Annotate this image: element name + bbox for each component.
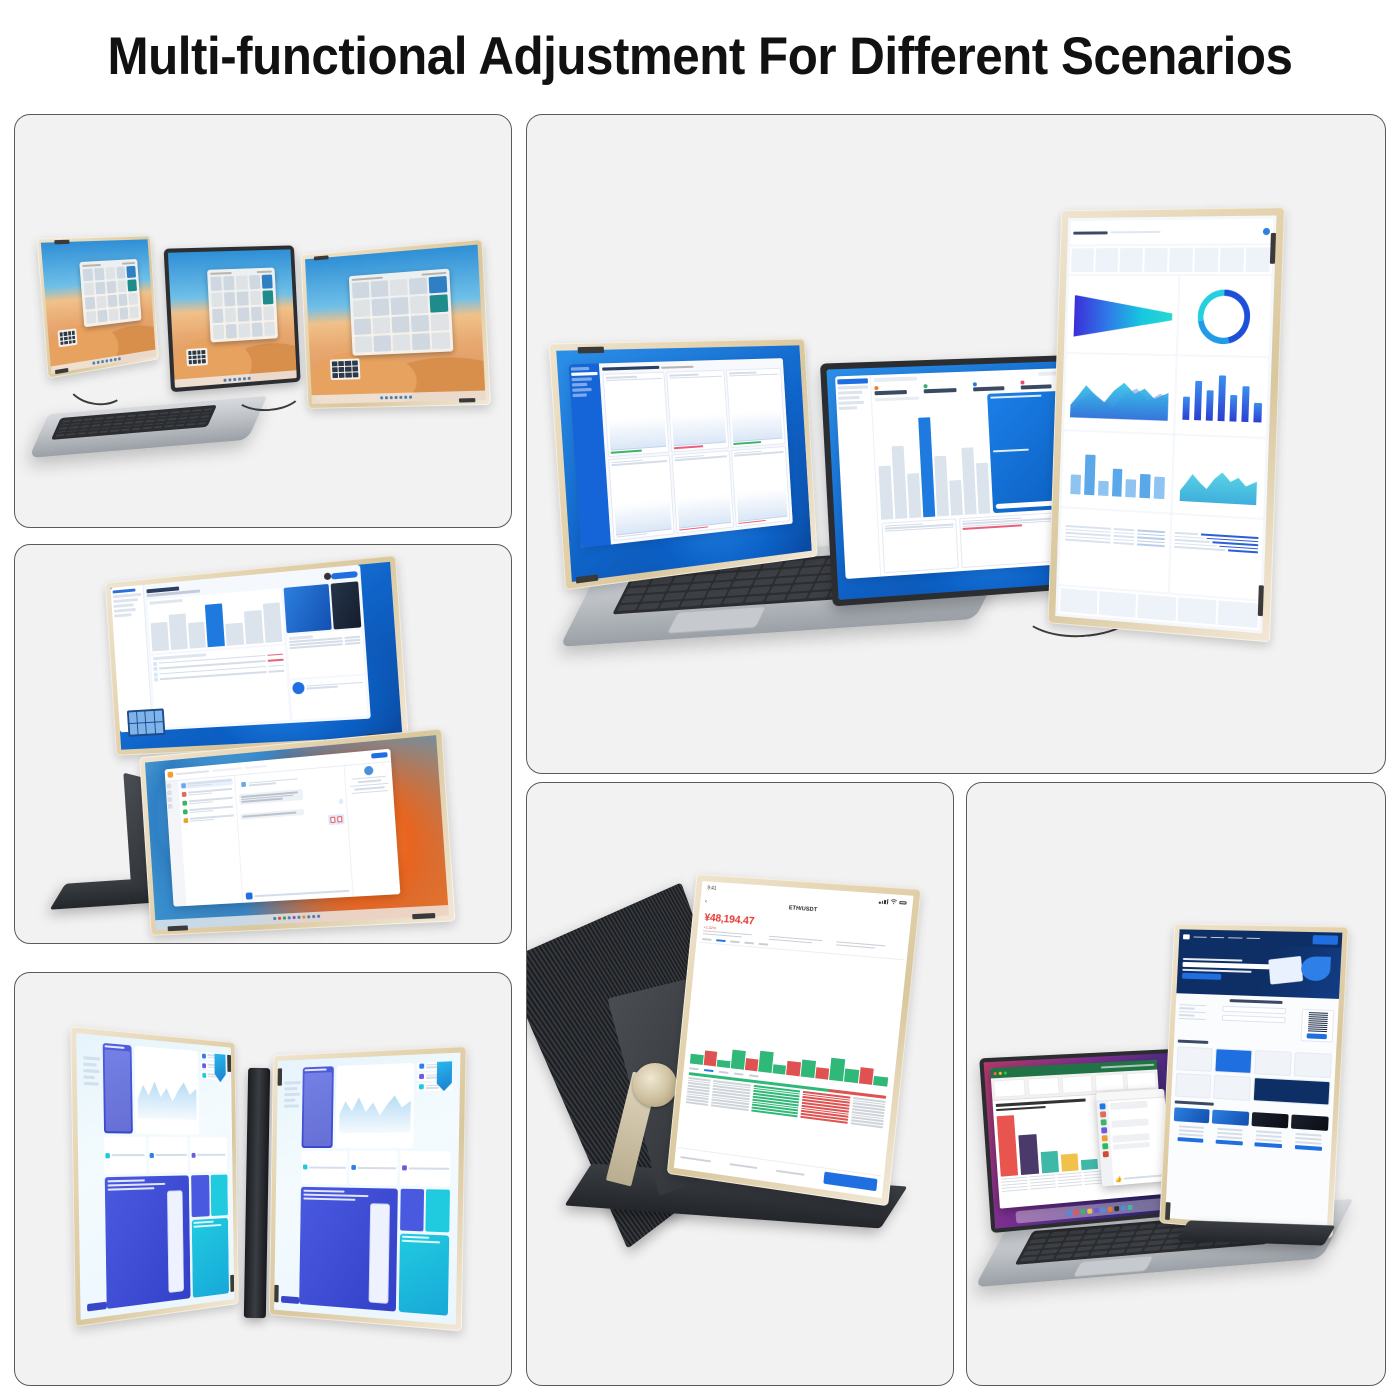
back-chevron-icon[interactable]: ‹	[705, 899, 707, 905]
stat-pill[interactable]	[400, 1151, 451, 1187]
metric-card[interactable]	[602, 372, 669, 457]
desktop-widget[interactable]	[57, 329, 78, 348]
crypto-trading-app: 9:41 ‹ ETH/USDT ¥48,194.47	[674, 881, 914, 1198]
dashboard-app	[556, 345, 811, 582]
left-fold-screen	[70, 1026, 238, 1327]
banking-content	[144, 565, 371, 730]
battery-icon	[899, 901, 907, 905]
avatar	[363, 765, 373, 775]
bar-chart	[875, 399, 990, 520]
fintech-bottom-row	[300, 1187, 451, 1316]
text-input[interactable]	[1222, 1014, 1285, 1023]
hero-eyebrow	[1183, 958, 1243, 962]
metric-card[interactable]	[666, 370, 729, 453]
greeting-block	[147, 584, 200, 597]
product-card[interactable]	[1291, 1114, 1329, 1130]
fintech-mid-row	[301, 1151, 450, 1187]
dashboard-window	[568, 358, 793, 548]
ranking-list	[1173, 532, 1259, 593]
left-extension-monitor	[37, 235, 160, 378]
card-promo-tile[interactable]	[302, 1066, 334, 1148]
feature-tile[interactable]	[1175, 1073, 1212, 1099]
area-chart-primary	[1070, 373, 1169, 420]
vertical-stack-scene	[15, 545, 511, 943]
tent-mode-screen: 9:41 ‹ ETH/USDT ¥48,194.47	[667, 874, 922, 1207]
portrait-monitor-screen	[1055, 215, 1276, 633]
windows-desktop	[305, 245, 486, 404]
message-bubble-outgoing	[339, 799, 343, 805]
right-fold-screen	[269, 1046, 467, 1332]
balance-card[interactable]	[192, 1218, 229, 1298]
stat-pill[interactable]	[104, 1137, 147, 1174]
kpi-stat	[924, 382, 970, 393]
lookup-form-row	[1178, 1004, 1334, 1042]
tent-mode-scene: 9:41 ‹ ETH/USDT ¥48,194.47	[527, 783, 953, 1385]
panel-tent-mode: 9:41 ‹ ETH/USDT ¥48,194.47	[526, 782, 954, 1386]
panel-triple-screen	[14, 114, 512, 528]
stat-pill[interactable]	[190, 1138, 227, 1173]
notice-card[interactable]	[881, 518, 958, 573]
qr-action-button[interactable]	[1307, 1033, 1328, 1039]
corporate-website	[1165, 929, 1342, 1231]
analytics-nav[interactable]	[1069, 245, 1272, 274]
file-attachment-icon	[337, 816, 342, 822]
start-menu	[79, 259, 142, 328]
mobile-app-promo-card[interactable]	[300, 1187, 399, 1312]
bar-chart-card	[1175, 356, 1269, 437]
message-bubble-outgoing	[328, 814, 345, 825]
message-bubble	[1112, 1133, 1150, 1143]
bottom-screen-display	[145, 735, 449, 930]
trend-line-chart	[336, 1063, 415, 1148]
funnel-chart	[1074, 295, 1173, 338]
portrait-extension-monitor	[1159, 923, 1349, 1238]
fintech-content	[300, 1061, 453, 1316]
qr-code-card	[1301, 1008, 1334, 1042]
conversation-item[interactable]	[182, 813, 234, 824]
top-screen	[105, 555, 409, 756]
panel-laptop-dual-extension	[526, 114, 1386, 774]
panel-vertical-stack	[14, 544, 512, 944]
trade-cta-button[interactable]	[823, 1172, 877, 1192]
fintech-content	[102, 1043, 228, 1309]
pivot-hinge	[633, 1063, 677, 1107]
text-input[interactable]	[1223, 1005, 1286, 1013]
laptop-lid	[164, 245, 301, 392]
table-column	[1250, 1130, 1287, 1148]
area-chart-card	[1064, 354, 1175, 434]
kpi-stat	[972, 380, 1017, 391]
bottom-screen	[139, 728, 455, 936]
stat-pill[interactable]	[350, 1151, 398, 1186]
donut-chart	[1197, 290, 1252, 345]
card-promo-tile[interactable]	[102, 1043, 133, 1134]
banking-left-column	[147, 589, 290, 727]
credit-card[interactable]	[284, 584, 331, 632]
section-heading	[1178, 1039, 1208, 1043]
conversation-list[interactable]	[178, 775, 243, 906]
trend-line-chart	[134, 1046, 199, 1135]
transaction-list-card	[151, 646, 290, 727]
credit-card[interactable]	[330, 582, 361, 629]
left-fold-display	[76, 1033, 234, 1320]
laptop-trackpad[interactable]	[666, 606, 766, 634]
portrait-monitor-screen	[1165, 929, 1342, 1231]
fintech-top-row	[102, 1043, 226, 1135]
chat-body: 👍	[1097, 1098, 1171, 1186]
table-column	[1173, 1125, 1209, 1143]
mobile-app-promo-card[interactable]	[104, 1175, 190, 1308]
right-monitor-screen	[305, 245, 486, 404]
top-screen-display	[111, 562, 403, 750]
start-menu-app-grid[interactable]	[210, 275, 275, 339]
chat-body	[165, 761, 400, 907]
stat-pill[interactable]	[148, 1137, 188, 1173]
signal-icon	[879, 898, 889, 904]
donut-chart-card	[1177, 276, 1271, 356]
start-menu-app-grid[interactable]	[352, 276, 451, 353]
desktop-widget[interactable]	[329, 358, 360, 380]
chat-desktop	[145, 735, 449, 930]
tent-screen-display: 9:41 ‹ ETH/USDT ¥48,194.47	[674, 881, 914, 1198]
windows-desktop	[168, 249, 297, 387]
insight-row	[292, 677, 363, 694]
vertical-bar-chart	[1182, 372, 1262, 423]
analytics-header	[1070, 219, 1273, 245]
feature-tile[interactable]	[1215, 1048, 1252, 1074]
feature-tile[interactable]	[1213, 1075, 1250, 1101]
nav-cta-button[interactable]	[1312, 935, 1338, 944]
feature-tile[interactable]	[1176, 1046, 1213, 1071]
chat-window: 👍	[1096, 1088, 1171, 1186]
message-bubble	[1110, 1101, 1148, 1110]
account-summary-card	[287, 629, 365, 678]
start-menu	[207, 268, 278, 342]
laptop-keyboard	[51, 405, 217, 440]
form-menu[interactable]	[1178, 1004, 1207, 1037]
metric-card[interactable]	[671, 450, 734, 534]
product-card[interactable]	[1251, 1112, 1288, 1128]
line-chart-card	[1172, 436, 1266, 519]
panel-book-fold	[14, 972, 512, 1386]
kpi-stat	[874, 384, 921, 395]
analytics-dashboard	[1055, 215, 1276, 633]
bar-chart	[150, 595, 283, 652]
laptop-base	[29, 396, 267, 458]
status-time: 9:41	[707, 885, 717, 892]
phone-illustration	[167, 1190, 185, 1293]
product-card[interactable]	[1212, 1109, 1249, 1125]
chat-window	[165, 748, 401, 907]
feature-tile[interactable]	[1293, 1052, 1332, 1078]
feature-tile[interactable]	[1254, 1050, 1292, 1076]
banking-app	[111, 565, 371, 732]
trading-pair: ETH/USDT	[789, 905, 818, 913]
left-monitor-screen	[41, 239, 156, 374]
hero-section	[1176, 944, 1341, 999]
metric-card-grid	[602, 368, 790, 542]
analytics-chart-grid	[1059, 276, 1271, 600]
wifi-icon	[890, 898, 898, 905]
panel-laptop-portrait-extension: 👍	[966, 782, 1386, 1386]
ranking-card	[1169, 515, 1263, 599]
desktop-widget[interactable]	[126, 708, 165, 736]
funnel-chart-card	[1067, 276, 1178, 354]
right-extension-monitor	[300, 239, 491, 409]
desktop-widget[interactable]	[186, 348, 208, 367]
qr-code-image	[1308, 1012, 1328, 1032]
hinge-spine	[244, 1068, 270, 1318]
metric-card[interactable]	[726, 368, 785, 448]
stat-pill[interactable]	[301, 1151, 347, 1185]
site-content	[1165, 993, 1339, 1232]
insight-card	[290, 675, 367, 719]
banking-right-column	[284, 582, 368, 720]
message-bubble	[1113, 1142, 1151, 1150]
multi-bar-card	[1062, 431, 1173, 513]
excel-bar-chart	[997, 1107, 1098, 1177]
message-bubble	[1111, 1118, 1149, 1127]
dual-extension-scene	[527, 115, 1385, 773]
section-heading	[1175, 1100, 1214, 1105]
section-heading	[1230, 999, 1283, 1004]
feature-tile-grid	[1175, 1046, 1332, 1105]
message-bubble	[240, 809, 304, 819]
spending-chart-card	[147, 589, 284, 654]
page-title: Multi-functional Adjustment For Differen…	[49, 26, 1351, 87]
right-portrait-monitor	[1048, 207, 1285, 642]
product-feature-page: Multi-functional Adjustment For Differen…	[0, 0, 1400, 1400]
product-card[interactable]	[1174, 1107, 1210, 1123]
laptop-screen	[168, 249, 297, 387]
kpi-dashboard-window	[835, 368, 1077, 579]
grouped-bar-chart	[1070, 447, 1165, 499]
data-table	[1063, 525, 1165, 585]
hero-cta-button[interactable]	[1182, 973, 1221, 980]
data-table-card	[1059, 509, 1170, 593]
phone-illustration	[368, 1203, 390, 1304]
balance-card[interactable]	[399, 1234, 449, 1316]
table-column	[1211, 1127, 1248, 1145]
fintech-bottom-row	[104, 1174, 228, 1308]
metric-card[interactable]	[608, 454, 675, 541]
left-monitor-screen	[556, 345, 811, 582]
metric-card[interactable]	[731, 446, 790, 528]
banking-body	[147, 582, 367, 727]
dashboard-content	[599, 358, 793, 545]
form-fields	[1208, 1005, 1300, 1041]
right-fold-display	[274, 1053, 460, 1325]
contact-info-pane	[344, 761, 401, 897]
start-menu	[349, 269, 454, 356]
fintech-dashboard	[274, 1053, 460, 1325]
message-thread	[235, 766, 353, 903]
book-fold-scene	[15, 973, 511, 1385]
dashboard-content	[871, 368, 1077, 576]
feature-tile[interactable]	[1252, 1077, 1330, 1105]
banking-dashboard	[111, 562, 403, 750]
triple-screen-scene	[15, 115, 511, 527]
line-chart	[1180, 464, 1258, 505]
fintech-top-row	[302, 1061, 452, 1148]
laptop-portrait-scene: 👍	[967, 783, 1385, 1385]
hero-illustration	[1266, 953, 1331, 991]
fintech-dashboard	[76, 1033, 234, 1320]
windows-desktop	[41, 239, 156, 374]
table-column	[1290, 1132, 1328, 1151]
left-extension-monitor	[548, 339, 817, 591]
start-menu-app-grid[interactable]	[83, 266, 140, 325]
file-attachment-icon	[330, 816, 335, 822]
fintech-mid-row	[104, 1137, 227, 1174]
